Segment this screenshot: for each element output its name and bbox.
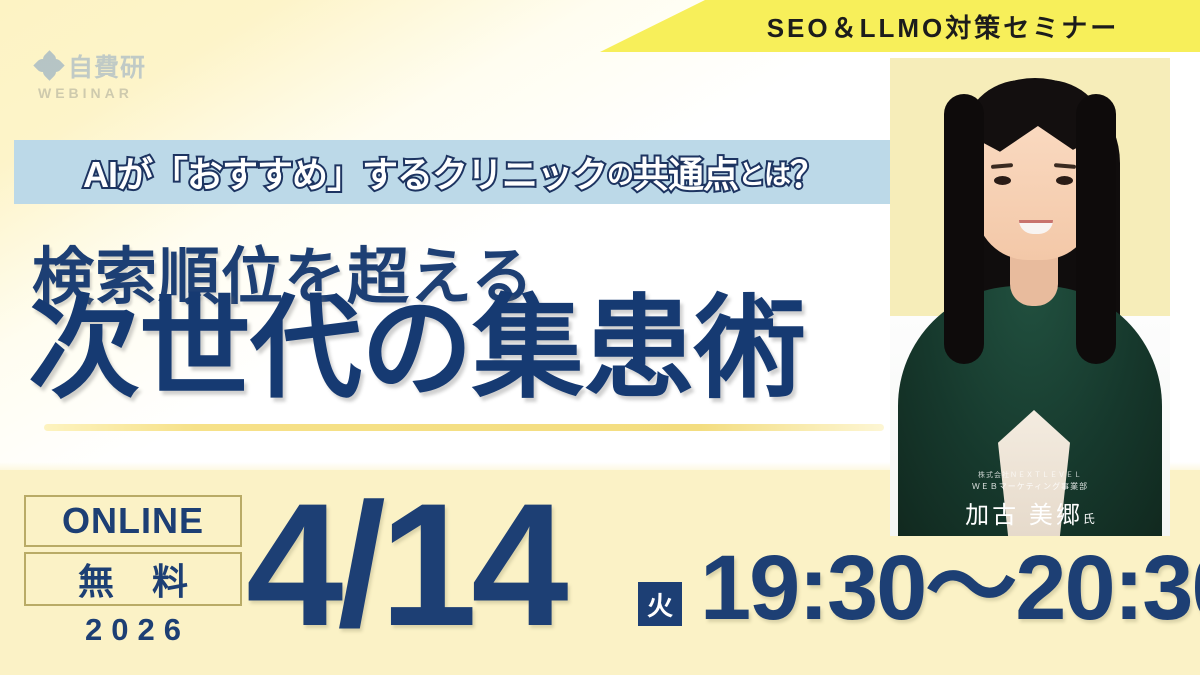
speaker-org-line-1: 株式会社ＮＥＸＴＬＥＶＥＬ <box>890 470 1170 480</box>
hair-side-right <box>1076 94 1116 364</box>
brand-logo: 自費研 WEBINAR <box>36 48 146 101</box>
headline-underline <box>44 424 884 431</box>
event-year: 2026 <box>24 612 242 648</box>
subtitle-part1: AIが「おすすめ」するクリニック <box>83 146 607 198</box>
eye-left <box>994 176 1011 185</box>
speaker-name-text: 加古 美郷 <box>965 502 1083 529</box>
eye-right <box>1056 176 1073 185</box>
logo-name: 自費研 <box>68 48 146 84</box>
speaker-org-line-2: ＷＥＢマーケティング事業部 <box>890 481 1170 492</box>
subtitle-part2: 共通点 <box>633 146 738 198</box>
subtitle-text: AIが「おすすめ」するクリニック の 共通点 とは ？ <box>14 140 894 204</box>
format-badge: ONLINE <box>24 495 242 547</box>
speaker-portrait: 株式会社ＮＥＸＴＬＥＶＥＬ ＷＥＢマーケティング事業部 加古 美郷氏 <box>890 58 1170 536</box>
seminar-ribbon-label: SEO＆LLMO対策セミナー <box>600 0 1200 52</box>
subtitle-small2: とは <box>738 153 790 192</box>
event-date: 4/14 <box>246 478 563 653</box>
headline-line-2: 次世代の集患術 <box>28 290 805 408</box>
speaker-name: 加古 美郷氏 <box>890 495 1170 530</box>
speaker-info: 株式会社ＮＥＸＴＬＥＶＥＬ ＷＥＢマーケティング事業部 加古 美郷氏 <box>890 470 1170 530</box>
subtitle-small1: の <box>607 153 633 192</box>
subtitle-part3: ？ <box>790 146 825 198</box>
speaker-honorific: 氏 <box>1083 512 1095 526</box>
clover-icon <box>36 53 62 79</box>
hair-side-left <box>944 94 984 364</box>
price-badge: 無 料 <box>24 552 242 606</box>
event-time: 19:30〜20:30 <box>700 542 1200 634</box>
day-of-week-badge: 火 <box>638 582 682 626</box>
webinar-banner: SEO＆LLMO対策セミナー 自費研 WEBINAR AIが「おすすめ」するクリ… <box>0 0 1200 675</box>
logo-subtitle: WEBINAR <box>38 85 133 101</box>
